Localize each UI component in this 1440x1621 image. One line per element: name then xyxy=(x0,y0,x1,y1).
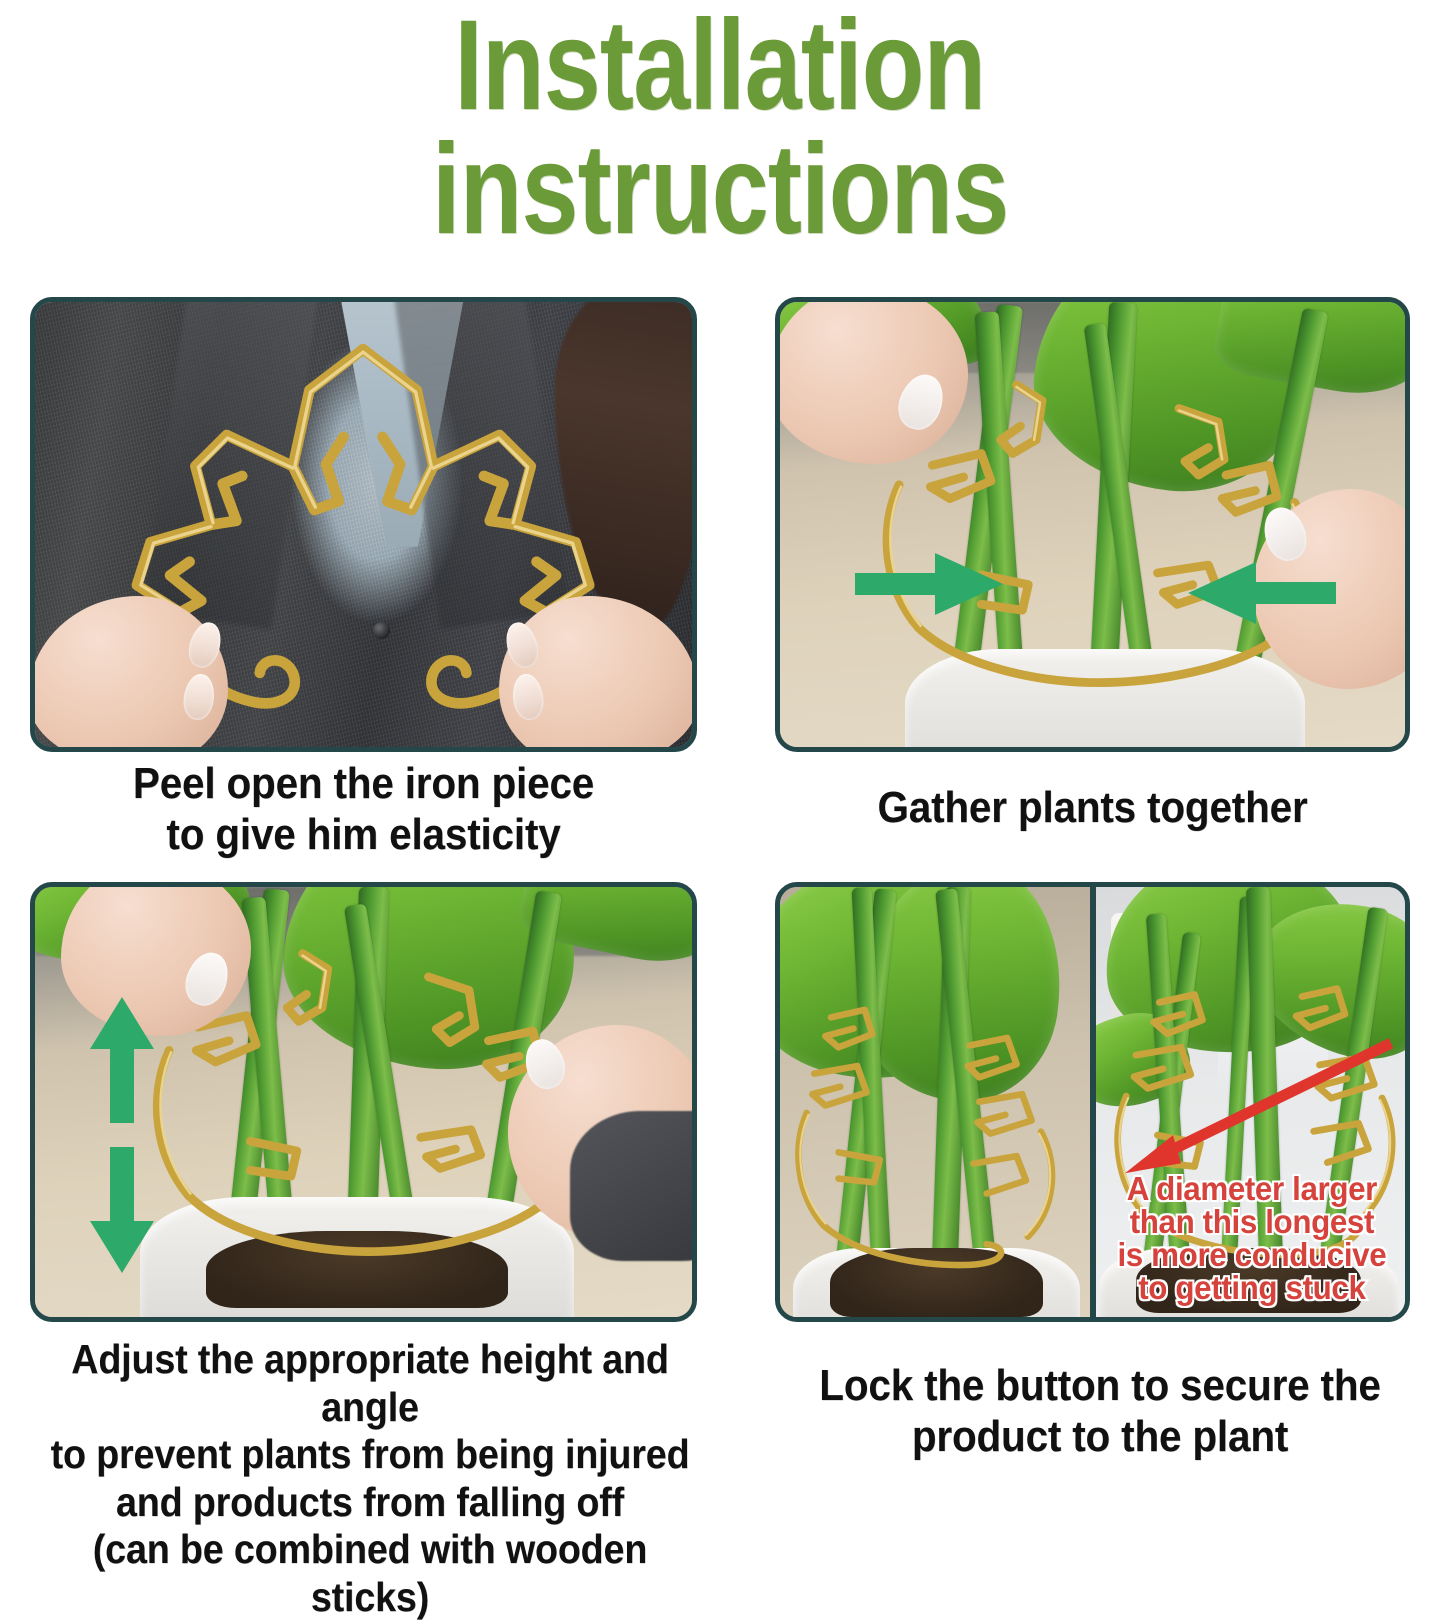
page-title: Installation instructions xyxy=(0,0,1440,285)
warning-line: to getting stuck xyxy=(1112,1271,1391,1304)
caption-line: to prevent plants from being injured xyxy=(30,1431,711,1479)
step-3-caption: Adjust the appropriate height and angle … xyxy=(30,1336,711,1621)
warning-line: is more conducive xyxy=(1112,1238,1391,1271)
caption-line: Adjust the appropriate height and angle xyxy=(30,1336,711,1431)
step-3-photo-inner xyxy=(35,887,692,1317)
fingernail xyxy=(510,672,546,722)
caption-line: Gather plants together xyxy=(800,782,1384,833)
caption-line: and products from falling off xyxy=(30,1479,711,1527)
warning-line: A diameter larger xyxy=(1112,1172,1391,1205)
caption-line: Lock the button to secure the xyxy=(787,1360,1413,1411)
arrow-right-icon xyxy=(855,551,1005,617)
arrow-down-icon xyxy=(88,1145,156,1275)
page-title-line-1: Installation xyxy=(455,4,986,128)
warning-line: than this longest xyxy=(1112,1205,1391,1238)
caption-line: product to the plant xyxy=(787,1411,1413,1462)
caption-line: (can be combined with wooden sticks) xyxy=(30,1526,711,1621)
step-4-photo-left xyxy=(780,887,1093,1317)
warning-overlay-text: A diameter larger than this longest is m… xyxy=(1112,1172,1391,1304)
step-4-photo-inner: A diameter larger than this longest is m… xyxy=(780,887,1405,1317)
step-4-photo: A diameter larger than this longest is m… xyxy=(775,882,1410,1322)
sleeve-cuff xyxy=(570,1111,692,1261)
step-1-photo xyxy=(30,297,697,752)
step-2-photo xyxy=(775,297,1410,752)
fingernail xyxy=(179,947,235,1011)
caption-line: to give him elasticity xyxy=(57,809,671,860)
fingernail xyxy=(891,369,950,436)
arrow-up-icon xyxy=(88,995,156,1125)
step-4-caption: Lock the button to secure the product to… xyxy=(787,1360,1413,1462)
page-title-line-2: instructions xyxy=(432,128,1008,252)
fingernail xyxy=(181,672,217,722)
step-2-photo-inner xyxy=(780,302,1405,747)
step-1-caption: Peel open the iron piece to give him ela… xyxy=(57,758,671,860)
split-divider xyxy=(1090,887,1096,1317)
arrow-left-icon xyxy=(1186,560,1336,626)
gold-leaf-clip-icon xyxy=(786,982,1086,1300)
caption-line: Peel open the iron piece xyxy=(57,758,671,809)
step-1-photo-inner xyxy=(35,302,692,747)
step-2-caption: Gather plants together xyxy=(800,782,1384,833)
step-3-photo xyxy=(30,882,697,1322)
